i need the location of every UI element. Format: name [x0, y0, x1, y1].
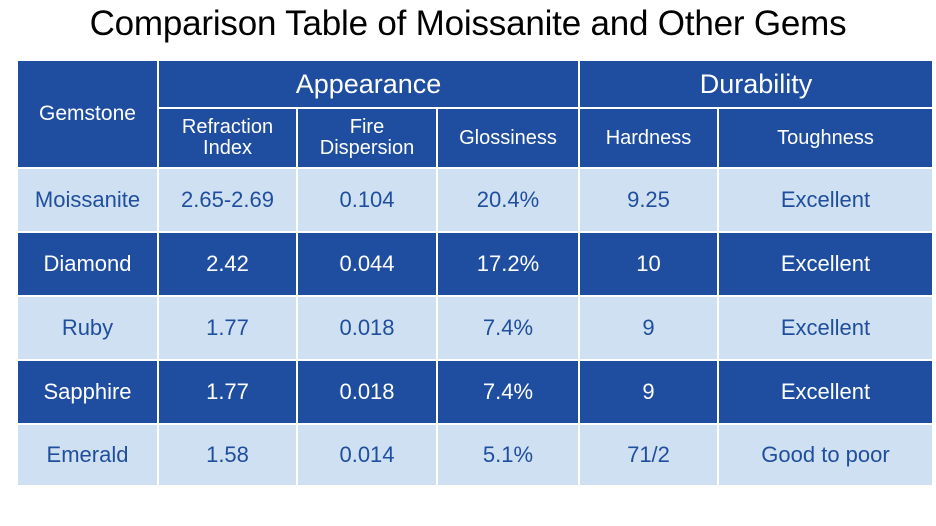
- table-row: Emerald 1.58 0.014 5.1% 71/2 Good to poo…: [18, 425, 932, 485]
- cell-gemstone: Emerald: [18, 425, 157, 485]
- header-toughness: Toughness: [719, 109, 932, 167]
- table-header-group-row: Gemstone Appearance Durability: [18, 61, 932, 107]
- cell-fire-dispersion: 0.044: [298, 233, 436, 295]
- table-row: Moissanite 2.65-2.69 0.104 20.4% 9.25 Ex…: [18, 169, 932, 231]
- cell-gemstone: Diamond: [18, 233, 157, 295]
- cell-toughness: Excellent: [719, 297, 932, 359]
- header-gemstone: Gemstone: [18, 61, 157, 167]
- table-row: Ruby 1.77 0.018 7.4% 9 Excellent: [18, 297, 932, 359]
- cell-toughness: Excellent: [719, 169, 932, 231]
- cell-fire-dispersion: 0.018: [298, 361, 436, 423]
- header-hardness: Hardness: [580, 109, 717, 167]
- cell-refraction-index: 1.58: [159, 425, 296, 485]
- cell-refraction-index: 1.77: [159, 361, 296, 423]
- header-group-durability: Durability: [580, 61, 932, 107]
- cell-toughness: Excellent: [719, 233, 932, 295]
- cell-hardness: 9: [580, 297, 717, 359]
- cell-glossiness: 5.1%: [438, 425, 578, 485]
- cell-hardness: 71/2: [580, 425, 717, 485]
- document-page: Comparison Table of Moissanite and Other…: [0, 0, 936, 526]
- cell-toughness: Excellent: [719, 361, 932, 423]
- comparison-table-container: Gemstone Appearance Durability Refractio…: [16, 59, 920, 487]
- cell-gemstone: Moissanite: [18, 169, 157, 231]
- cell-glossiness: 7.4%: [438, 297, 578, 359]
- gem-comparison-table: Gemstone Appearance Durability Refractio…: [16, 59, 934, 487]
- table-body: Moissanite 2.65-2.69 0.104 20.4% 9.25 Ex…: [18, 169, 932, 485]
- cell-gemstone: Ruby: [18, 297, 157, 359]
- table-row: Diamond 2.42 0.044 17.2% 10 Excellent: [18, 233, 932, 295]
- cell-refraction-index: 2.42: [159, 233, 296, 295]
- cell-fire-dispersion: 0.014: [298, 425, 436, 485]
- header-fire-dispersion-line1: Fire: [350, 116, 384, 138]
- cell-refraction-index: 2.65-2.69: [159, 169, 296, 231]
- table-row: Sapphire 1.77 0.018 7.4% 9 Excellent: [18, 361, 932, 423]
- header-group-appearance: Appearance: [159, 61, 578, 107]
- cell-glossiness: 7.4%: [438, 361, 578, 423]
- table-header: Gemstone Appearance Durability Refractio…: [18, 61, 932, 167]
- header-refraction-index-line2: Index: [203, 137, 252, 159]
- cell-hardness: 9.25: [580, 169, 717, 231]
- cell-hardness: 10: [580, 233, 717, 295]
- cell-toughness: Good to poor: [719, 425, 932, 485]
- header-fire-dispersion: Fire Dispersion: [298, 109, 436, 167]
- header-refraction-index: Refraction Index: [159, 109, 296, 167]
- cell-glossiness: 20.4%: [438, 169, 578, 231]
- header-glossiness: Glossiness: [438, 109, 578, 167]
- header-refraction-index-line1: Refraction: [182, 116, 273, 138]
- header-fire-dispersion-line2: Dispersion: [320, 137, 414, 159]
- cell-glossiness: 17.2%: [438, 233, 578, 295]
- cell-fire-dispersion: 0.018: [298, 297, 436, 359]
- cell-fire-dispersion: 0.104: [298, 169, 436, 231]
- cell-gemstone: Sapphire: [18, 361, 157, 423]
- page-title: Comparison Table of Moissanite and Other…: [0, 0, 936, 54]
- cell-refraction-index: 1.77: [159, 297, 296, 359]
- cell-hardness: 9: [580, 361, 717, 423]
